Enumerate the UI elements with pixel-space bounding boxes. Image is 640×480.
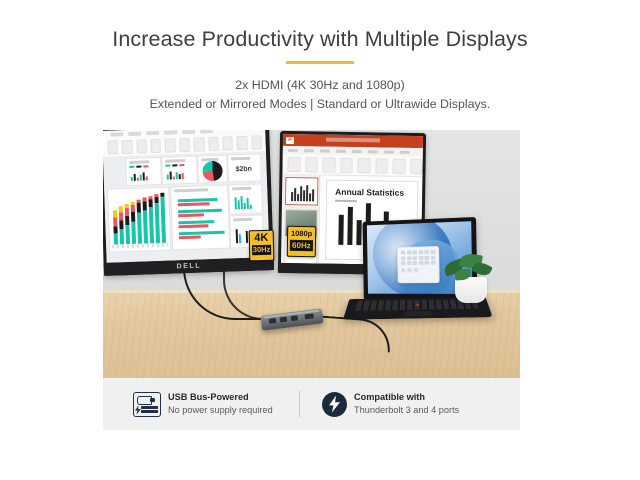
dash-card-kpi: $2bn: [227, 153, 262, 182]
donut-chart: [202, 161, 223, 182]
dash-card-hbars: [170, 185, 230, 251]
windows-start-menu: [397, 246, 440, 283]
left-monitor-screen: $2bn: [103, 130, 270, 263]
stacked-bar-chart: [107, 187, 171, 253]
badge-refresh-rate: 30Hz: [252, 245, 271, 255]
dell-logo: DELL: [176, 263, 201, 271]
dash-card-2: [161, 156, 198, 185]
title-underline-accent: [286, 61, 354, 64]
feature-title: Compatible with: [354, 392, 459, 403]
dash-card-area: [228, 183, 263, 214]
1080p-60hz-badge: 1080p 60Hz: [287, 226, 317, 258]
powerpoint-icon: P: [286, 136, 294, 143]
feature-bar: USB Bus-Powered No power supply required…: [103, 378, 520, 430]
feature-title: USB Bus-Powered: [168, 392, 273, 403]
header: Increase Productivity with Multiple Disp…: [0, 26, 640, 114]
thunderbolt-icon: [322, 392, 347, 417]
feature-usb-bus-powered: USB Bus-Powered No power supply required: [103, 392, 299, 417]
hub-port: [291, 315, 299, 321]
page-title: Increase Productivity with Multiple Disp…: [0, 26, 640, 52]
trackpoint-nub: [416, 304, 419, 306]
subtitle-line-1: 2x HDMI (4K 30Hz and 1080p): [235, 78, 404, 92]
4k-30hz-badge: 4K 30Hz: [249, 230, 275, 262]
subtitle: 2x HDMI (4K 30Hz and 1080p) Extended or …: [0, 76, 640, 114]
start-menu-recommended: [401, 268, 436, 273]
slide-thumbnail: [285, 177, 318, 206]
feature-subtitle: Thunderbolt 3 and 4 ports: [354, 405, 459, 416]
badge-refresh-rate: 60Hz: [290, 240, 313, 251]
badge-resolution: 4K: [250, 232, 273, 245]
hub-port: [280, 316, 288, 322]
dash-card-1: [125, 157, 162, 186]
subtitle-line-2: Extended or Mirrored Modes | Standard or…: [150, 97, 491, 111]
badge-resolution: 1080p: [288, 228, 315, 239]
slide-title: Annual Statistics: [335, 187, 417, 198]
feature-text: USB Bus-Powered No power supply required: [168, 392, 273, 415]
feature-subtitle: No power supply required: [168, 405, 273, 416]
dash-card-pie: [197, 155, 228, 184]
start-menu-app-grid: [401, 250, 436, 265]
laptop-trackpad: [404, 311, 432, 316]
kpi-value: $2bn: [235, 166, 252, 174]
chart-x-axis-labels: [112, 243, 168, 249]
feature-thunderbolt-compatible: Compatible with Thunderbolt 3 and 4 port…: [300, 392, 510, 417]
hub-port: [269, 317, 277, 323]
hub-port: [304, 313, 314, 319]
powerpoint-window-caption: [326, 138, 380, 143]
potted-monstera: [455, 277, 487, 303]
usb-bus-powered-label-lines: [141, 406, 158, 414]
usb-plug-tip: [150, 398, 155, 402]
thunderbolt-bolt-shape: [328, 396, 341, 413]
bi-dashboard-canvas: $2bn: [103, 151, 270, 263]
product-marketing-image: Increase Productivity with Multiple Disp…: [0, 0, 640, 480]
product-photo: $2bn: [103, 130, 520, 378]
usb-bus-powered-icon: [133, 392, 161, 417]
feature-text: Compatible with Thunderbolt 3 and 4 port…: [354, 392, 459, 415]
